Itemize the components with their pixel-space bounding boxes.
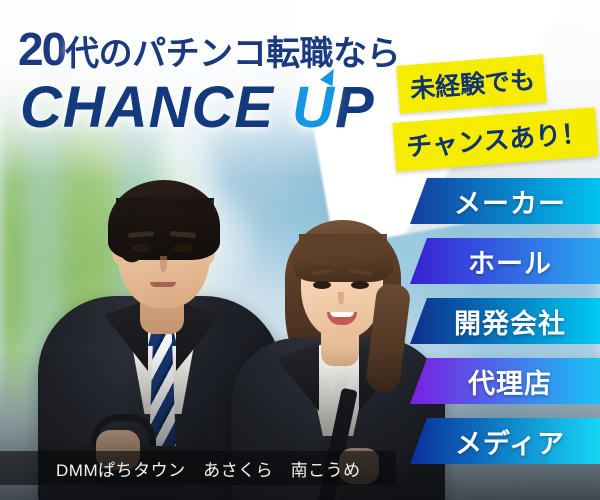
woman-nose: [338, 292, 344, 305]
category-label: ホール: [458, 242, 552, 281]
caption-bar: DMMぱちタウン あさくら 南こうめ: [0, 451, 396, 485]
category-list: メーカー ホール 開発会社 代理店 メディア: [410, 178, 600, 464]
headline-number: 20: [18, 23, 65, 75]
logo-word-chance: CHANCE: [20, 75, 274, 140]
category-hall[interactable]: ホール: [410, 238, 600, 284]
woman-teeth: [330, 312, 354, 317]
logo-letter-u: U: [292, 74, 335, 141]
category-label: 代理店: [458, 362, 552, 401]
category-agency[interactable]: 代理店: [410, 358, 600, 404]
category-maker[interactable]: メーカー: [410, 178, 600, 224]
headline: 20代のパチンコ転職なら: [18, 22, 400, 76]
chance-up-logo: CHANCEUP: [20, 74, 375, 141]
headline-middle: 代のパチンコ転職: [65, 35, 333, 73]
category-label: メーカー: [444, 182, 566, 221]
badge-chance-available: チャンスあり！: [392, 107, 598, 172]
headline-tail: なら: [333, 35, 400, 73]
man-nose: [160, 256, 167, 272]
man-eye-left: [131, 244, 151, 252]
man-mouth: [150, 282, 176, 287]
woman-bangs: [299, 234, 387, 268]
category-label: 開発会社: [444, 302, 566, 341]
yellow-badges: 未経験でも チャンスあり！: [398, 60, 594, 164]
caption-text: DMMぱちタウン あさくら 南こうめ: [0, 456, 361, 481]
woman-eye-right: [351, 281, 369, 289]
logo-letter-p: P: [335, 75, 375, 140]
badge-no-experience: 未経験でも: [396, 54, 546, 113]
man-eye-right: [173, 244, 193, 252]
category-developer[interactable]: 開発会社: [410, 298, 600, 344]
woman-eye-left: [313, 281, 331, 289]
banner-ad[interactable]: 20代のパチンコ転職なら CHANCEUP 未経験でも チャンスあり！ メーカー…: [0, 0, 600, 500]
category-media[interactable]: メディア: [410, 418, 600, 464]
category-label: メディア: [445, 422, 565, 461]
